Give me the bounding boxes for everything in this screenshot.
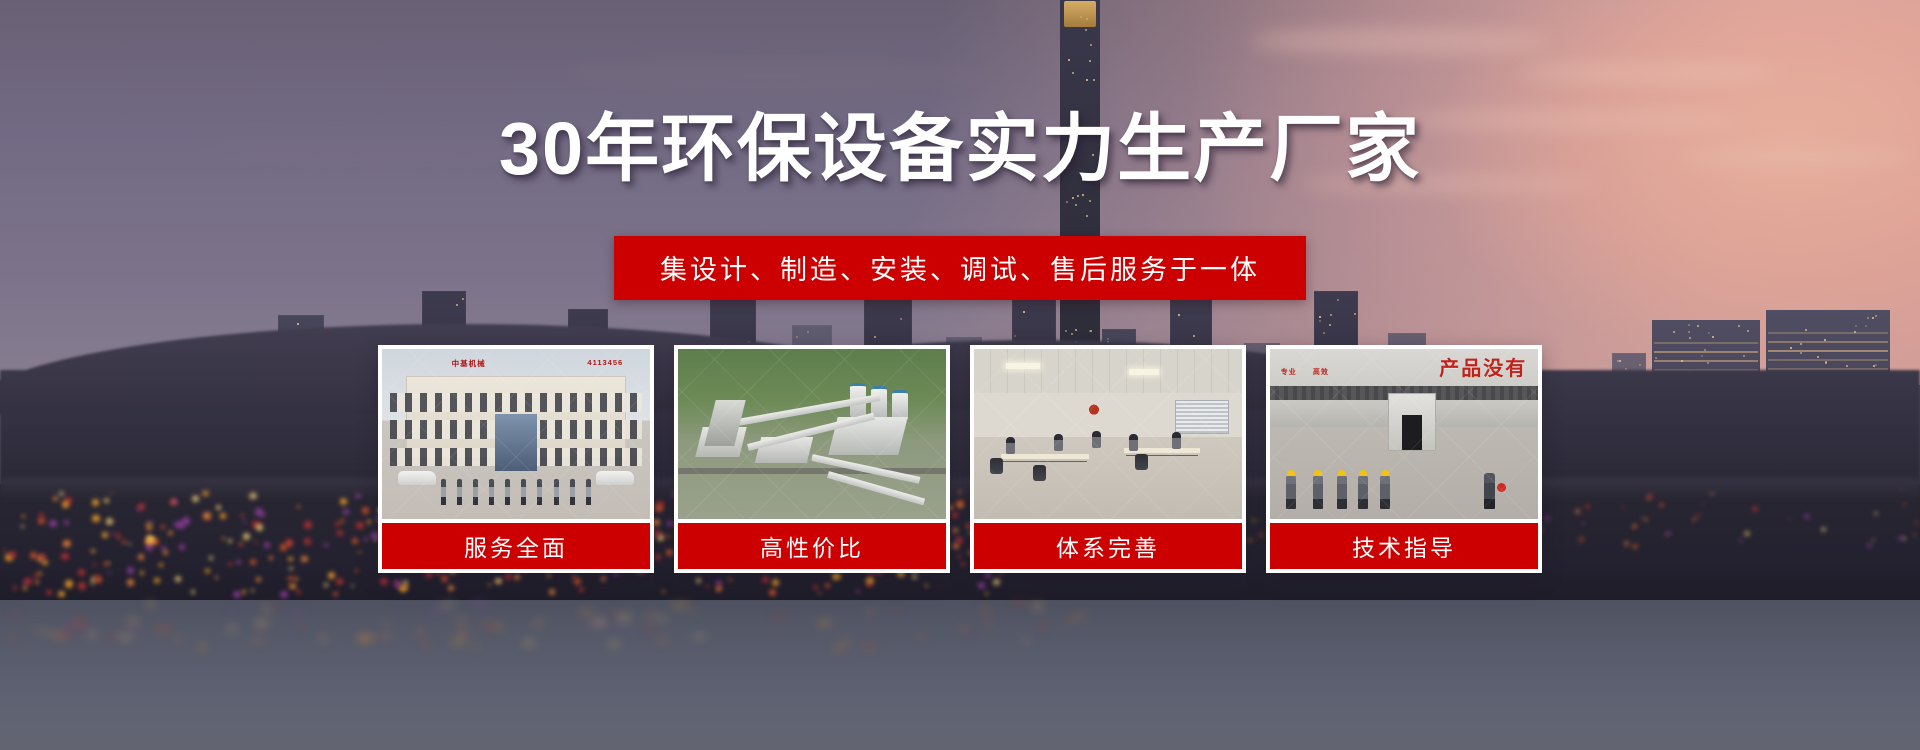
card-label: 体系完善 [974,523,1242,569]
factory-slogan-label: 专业 [1281,368,1297,377]
feature-card[interactable]: 体系完善 [970,345,1246,573]
feature-card[interactable]: 高性价比 [674,345,950,573]
page-title: 30年环保设备实力生产厂家 [0,112,1920,186]
factory-slogan-label: 高效 [1313,368,1329,377]
factory-sign-label: 产品没有 [1439,359,1527,379]
subtitle-ribbon: 集设计、制造、安装、调试、售后服务于一体 [614,236,1306,300]
card-image [678,349,946,519]
card-image [974,349,1242,519]
card-image: 中基机械 4113456 [382,349,650,519]
feature-card[interactable]: 产品没有 专业 高效 技术指导 [1266,345,1542,573]
feature-card-list: 中基机械 4113456 [378,345,1542,573]
building-phone-label: 4113456 [587,358,623,367]
banner-content: 30年环保设备实力生产厂家 集设计、制造、安装、调试、售后服务于一体 中基机械 … [0,0,1920,750]
building-sign-label: 中基机械 [452,358,486,369]
card-image: 产品没有 专业 高效 [1270,349,1538,519]
card-label: 高性价比 [678,523,946,569]
card-label: 服务全面 [382,523,650,569]
card-label: 技术指导 [1270,523,1538,569]
feature-card[interactable]: 中基机械 4113456 [378,345,654,573]
hero-banner: 30年环保设备实力生产厂家 集设计、制造、安装、调试、售后服务于一体 中基机械 … [0,0,1920,750]
